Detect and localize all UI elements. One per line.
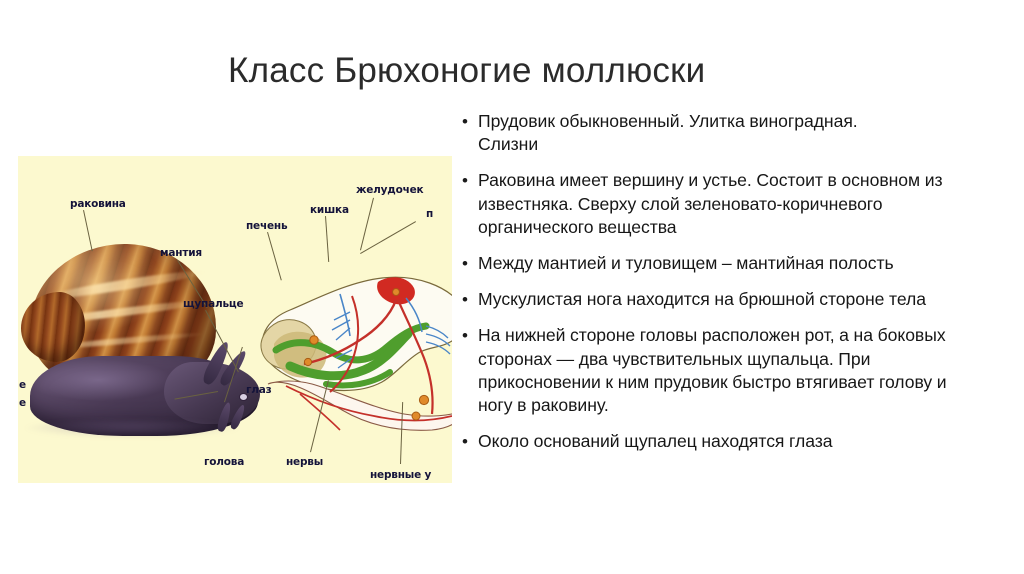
figure-label-clipped-p: п bbox=[426, 208, 433, 220]
ganglion-node bbox=[419, 395, 428, 404]
list-item: • Прудовик обыкновенный. Улитка виноград… bbox=[458, 110, 1018, 156]
bullet-marker-icon: • bbox=[458, 324, 478, 347]
list-item: • Около оснований щупалец находятся глаз… bbox=[458, 430, 1018, 453]
ganglion-node bbox=[310, 336, 318, 344]
shell-spire bbox=[21, 292, 85, 362]
bullet-text: На нижней стороне головы расположен рот,… bbox=[478, 324, 948, 417]
list-item: • Между мантией и туловищем – мантийная … bbox=[458, 252, 1018, 275]
list-item: • Раковина имеет вершину и устье. Состои… bbox=[458, 169, 1018, 239]
internal-anatomy-schematic bbox=[256, 234, 452, 458]
list-item: • Мускулистая нога находится на брюшной … bbox=[458, 288, 1018, 311]
figure-label-edge-2: е bbox=[19, 397, 26, 409]
bullet-text: Между мантией и туловищем – мантийная по… bbox=[478, 252, 930, 275]
bullet-text: Мускулистая нога находится на брюшной ст… bbox=[478, 288, 930, 311]
figure-label-zheludochek: желудочек bbox=[356, 184, 423, 196]
figure-label-rakovina: раковина bbox=[70, 198, 126, 210]
figure-label-mantiya: мантия bbox=[160, 247, 202, 259]
bullet-marker-icon: • bbox=[458, 252, 478, 275]
ganglion-node bbox=[393, 289, 400, 296]
ground-shadow bbox=[24, 420, 240, 438]
figure-label-pechen: печень bbox=[246, 220, 287, 232]
figure-label-nervy: нервы bbox=[286, 456, 323, 468]
figure-label-glaz: глаз bbox=[246, 384, 272, 396]
figure-label-schupalce: щупальце bbox=[183, 298, 243, 310]
snail-photo-illustration bbox=[24, 244, 264, 444]
bullet-list: • Прудовик обыкновенный. Улитка виноград… bbox=[458, 110, 1018, 453]
bullet-text: Раковина имеет вершину и устье. Состоит … bbox=[478, 169, 948, 239]
list-item: • На нижней стороне головы расположен ро… bbox=[458, 324, 1018, 417]
bullet-marker-icon: • bbox=[458, 288, 478, 311]
bullet-text: Около оснований щупалец находятся глаза bbox=[478, 430, 1012, 453]
bullet-marker-icon: • bbox=[458, 169, 478, 192]
bullet-marker-icon: • bbox=[458, 430, 478, 453]
figure-label-golova: голова bbox=[204, 456, 244, 468]
slide-canvas: Класс Брюхоногие моллюски bbox=[0, 0, 1024, 574]
figure-label-kishka: кишка bbox=[310, 204, 349, 216]
figure-stage: раковина мантия щупальце глаз голова печ… bbox=[18, 156, 452, 483]
bullet-marker-icon: • bbox=[458, 110, 478, 133]
page-title: Класс Брюхоногие моллюски bbox=[228, 48, 928, 94]
ganglion-node bbox=[304, 358, 311, 365]
anatomy-svg bbox=[256, 234, 452, 458]
ganglion-node bbox=[412, 412, 420, 420]
snail-anatomy-figure: раковина мантия щупальце глаз голова печ… bbox=[18, 156, 452, 483]
figure-label-edge-1: е bbox=[19, 379, 26, 391]
bullet-text: Прудовик обыкновенный. Улитка виноградна… bbox=[478, 110, 876, 156]
figure-label-nervnye-uzly: нервные у bbox=[370, 469, 431, 481]
